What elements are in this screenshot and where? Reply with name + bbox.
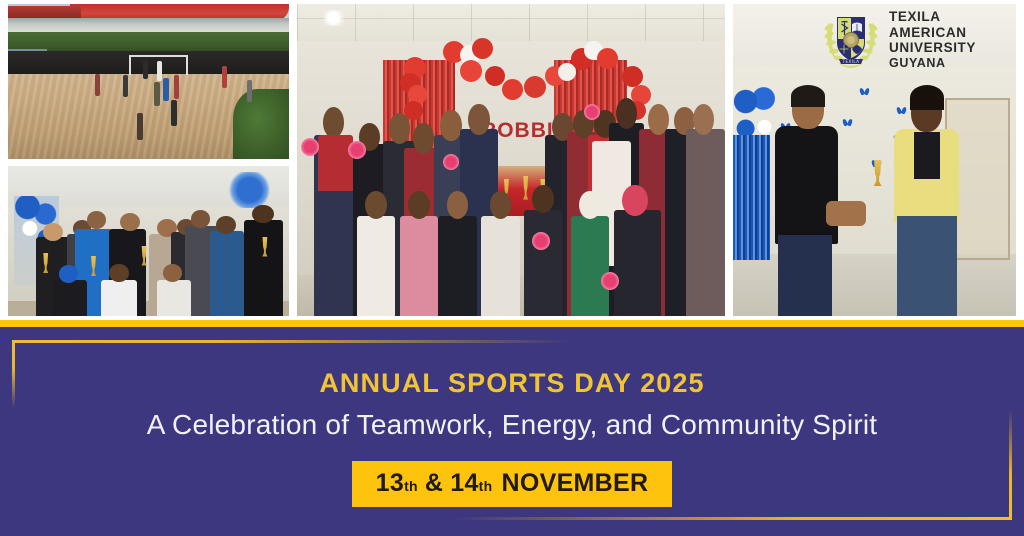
photo-blue-team-group — [8, 166, 289, 316]
player-figure — [174, 75, 179, 99]
gold-divider-strip — [0, 320, 1024, 327]
floor-region — [733, 254, 1016, 316]
person-figure — [524, 210, 563, 316]
person-figure — [614, 210, 661, 316]
logo-line-3: UNIVERSITY — [889, 40, 976, 56]
person-head — [252, 205, 273, 223]
butterfly-decal — [843, 119, 852, 126]
university-logo: TEXILA TEXILA AMERICAN UNIVERSITY GUYANA — [821, 9, 976, 71]
frame-line-bottom — [452, 517, 1012, 520]
player-figure — [222, 66, 227, 88]
recipient-jeans — [897, 216, 956, 316]
player-figure — [171, 100, 177, 126]
person-figure — [481, 216, 520, 316]
crest-motto-text: TEXILA — [842, 59, 860, 64]
photo-beach-football — [8, 4, 289, 159]
person-figure — [53, 280, 87, 316]
red-balloon — [597, 48, 618, 69]
pink-pompom — [584, 104, 600, 120]
red-balloon — [524, 76, 546, 98]
player-figure — [154, 82, 160, 106]
date-day-2: 14 — [450, 471, 478, 496]
person-figure — [686, 129, 725, 316]
player-figure — [137, 113, 143, 140]
butterfly-decal — [860, 88, 869, 95]
person-head — [622, 185, 648, 216]
event-banner: ANNUAL SPORTS DAY 2025 A Celebration of … — [0, 327, 1024, 536]
person-head — [440, 110, 461, 141]
person-head — [413, 123, 434, 154]
date-separator: & — [425, 471, 443, 496]
player-figure — [123, 75, 128, 97]
logo-line-2: AMERICAN — [889, 25, 976, 41]
banner-content: ANNUAL SPORTS DAY 2025 A Celebration of … — [0, 327, 1024, 507]
sports-day-poster: ROBBINS — [0, 0, 1024, 536]
logo-line-4: GUYANA — [889, 56, 976, 72]
player-figure — [163, 78, 169, 101]
person-head — [216, 216, 236, 234]
presenter-trousers — [778, 235, 832, 316]
person-head — [109, 264, 129, 282]
ceiling-region — [297, 4, 725, 45]
player-figure — [247, 80, 252, 102]
person-head — [408, 191, 429, 219]
person-head — [579, 191, 600, 219]
event-subtitle: A Celebration of Teamwork, Energy, and C… — [147, 409, 878, 441]
person-figure — [210, 231, 244, 317]
pink-pompom — [443, 154, 459, 170]
person-head — [191, 210, 211, 228]
player-figure — [143, 60, 148, 79]
person-figure — [157, 280, 191, 316]
person-figure — [101, 280, 138, 316]
crest-icon: TEXILA — [821, 9, 881, 71]
person-head — [59, 265, 79, 283]
person-head — [163, 264, 183, 282]
person-figure — [318, 135, 352, 191]
date-day-1: 13 — [376, 471, 404, 496]
photo-red-team-group: ROBBINS — [297, 4, 725, 316]
ceiling-light — [323, 10, 344, 26]
presenter-figure — [775, 126, 837, 245]
university-logo-text: TEXILA AMERICAN UNIVERSITY GUYANA — [889, 9, 976, 71]
person-head — [468, 104, 489, 135]
person-head — [616, 98, 637, 129]
person-figure — [357, 216, 396, 316]
recipient-hair — [910, 85, 944, 110]
recipient-top — [914, 132, 939, 179]
person-head — [43, 223, 63, 241]
red-balloon — [460, 60, 482, 82]
person-figure — [244, 220, 283, 316]
date-day-2-suffix: th — [479, 479, 493, 493]
blue-streamer-curtain — [733, 135, 770, 260]
person-head — [532, 185, 553, 213]
person-figure — [400, 216, 439, 316]
handshake-region — [826, 201, 866, 226]
person-head — [323, 107, 344, 138]
event-title: ANNUAL SPORTS DAY 2025 — [319, 368, 704, 399]
person-head — [365, 191, 386, 219]
foreground-bush — [233, 89, 289, 159]
date-day-1-suffix: th — [404, 479, 418, 493]
event-date-chip: 13th&14thNOVEMBER — [352, 461, 673, 507]
person-head — [490, 191, 511, 219]
photo-collage: ROBBINS — [0, 0, 1024, 320]
person-figure — [571, 216, 610, 316]
presenter-hair — [791, 85, 825, 107]
date-month: NOVEMBER — [502, 471, 649, 496]
player-figure — [157, 61, 162, 81]
player-figure — [95, 74, 100, 96]
butterfly-decal — [897, 107, 906, 114]
photo-trophy-award: TEXILA TEXILA AMERICAN UNIVERSITY GUYANA — [733, 4, 1016, 316]
person-figure — [438, 216, 477, 316]
red-roof-left — [8, 6, 81, 18]
person-head — [120, 213, 140, 231]
blue-pompom — [227, 172, 272, 208]
logo-line-1: TEXILA — [889, 9, 976, 25]
person-head — [87, 211, 107, 229]
